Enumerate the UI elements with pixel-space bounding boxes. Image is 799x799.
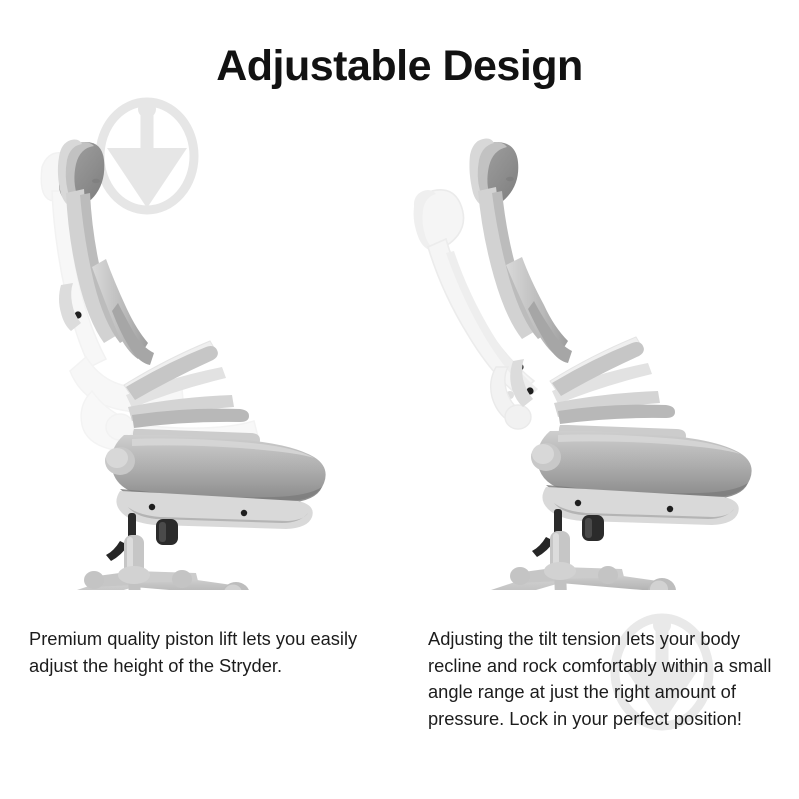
- caption-row: Premium quality piston lift lets you eas…: [0, 608, 799, 788]
- caption-tilt-tension: Adjusting the tilt tension lets your bod…: [428, 626, 778, 732]
- chair-illustration-tilt: Side view of the same grey office chair …: [400, 95, 799, 590]
- chair-base: [44, 566, 232, 590]
- chair-base: [470, 562, 658, 590]
- page-title: Adjustable Design: [0, 42, 799, 91]
- caption-height-adjustment: Premium quality piston lift lets you eas…: [29, 626, 391, 679]
- product-feature-infographic: Adjustable Design Side view: [0, 0, 799, 799]
- chair-illustration-height: Side view of a grey mesh office chair wi…: [0, 95, 399, 590]
- chair-tension-knob: [582, 515, 604, 541]
- chair-tension-knob: [156, 519, 178, 545]
- illustration-row: Side view of a grey mesh office chair wi…: [0, 95, 799, 590]
